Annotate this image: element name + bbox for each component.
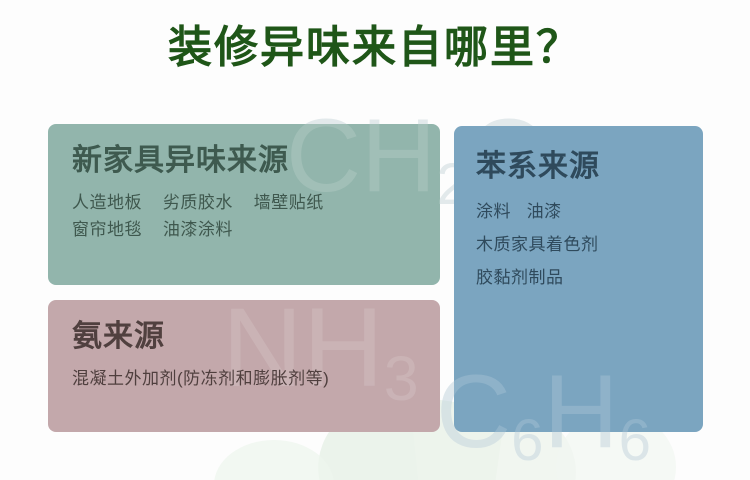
card-furniture-item-row-1: 人造地板 劣质胶水 墙壁贴纸	[72, 189, 440, 217]
card-watermark-sub1: 6	[511, 408, 543, 432]
leaf-decoration-small	[214, 440, 334, 480]
card-watermark-benzene: C6H6	[454, 360, 651, 432]
card-benzene-sources: C6H6 苯系来源 涂料 油漆 木质家具着色剂 胶黏剂制品	[454, 126, 703, 432]
page-title: 装修异味来自哪里？	[0, 24, 750, 72]
card-ammonia-sources: NH3 氨来源 混凝土外加剂(防冻剂和膨胀剂等)	[48, 300, 440, 432]
card-furniture-items: 人造地板 劣质胶水 墙壁贴纸 窗帘地毯 油漆涂料	[72, 189, 440, 244]
card-watermark-h: H	[544, 354, 619, 432]
card-watermark-sub2: 6	[619, 408, 651, 432]
card-furniture-item-row-2: 窗帘地毯 油漆涂料	[72, 216, 440, 244]
infographic-canvas: CH2O NH3 C6H6 装修异味来自哪里？ CH2O 新家具异味来源 人造地…	[0, 0, 750, 480]
card-benzene-item-row-2: 木质家具着色剂	[476, 228, 703, 261]
card-furniture-odor-sources: CH2O 新家具异味来源 人造地板 劣质胶水 墙壁贴纸 窗帘地毯 油漆涂料	[48, 124, 440, 285]
card-ammonia-item-row-1: 混凝土外加剂(防冻剂和膨胀剂等)	[72, 365, 440, 393]
card-watermark-c: C	[454, 354, 511, 432]
card-benzene-title: 苯系来源	[476, 150, 703, 185]
card-benzene-item-row-1: 涂料 油漆	[476, 195, 703, 228]
card-ammonia-items: 混凝土外加剂(防冻剂和膨胀剂等)	[72, 365, 440, 393]
card-benzene-items: 涂料 油漆 木质家具着色剂 胶黏剂制品	[476, 195, 703, 294]
card-furniture-title: 新家具异味来源	[72, 144, 440, 179]
card-benzene-item-row-3: 胶黏剂制品	[476, 261, 703, 294]
card-ammonia-title: 氨来源	[72, 320, 440, 355]
